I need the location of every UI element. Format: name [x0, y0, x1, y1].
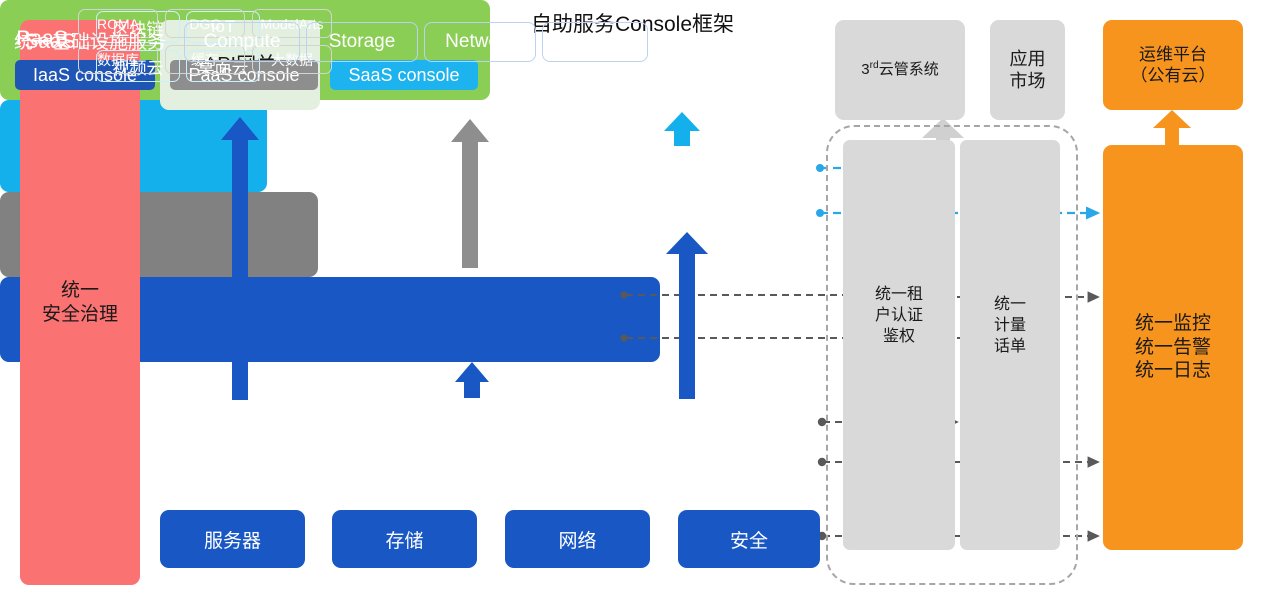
security-line-1: 统一	[42, 279, 118, 303]
saas-console-label: SaaS console	[348, 65, 459, 86]
third-cloud-label: 3rd云管系统	[861, 60, 938, 80]
auth-line-1: 统一租	[843, 285, 955, 306]
infra-chip-storage[interactable]: Storage	[306, 22, 418, 62]
arrow-paas-to-console	[451, 119, 489, 268]
architecture-diagram: 统一 安全治理 API网关 自助服务Console框架 IaaS console…	[0, 0, 1265, 605]
arrow-saas-to-console	[664, 112, 700, 146]
unified-metering-column[interactable]: 统一 计量 话单	[960, 140, 1060, 550]
app-market-box[interactable]: 应用 市场	[990, 20, 1065, 120]
resource-box-network[interactable]: 网络	[505, 510, 650, 568]
unified-infrastructure-label: 统一基础设施服务	[14, 27, 166, 54]
ops-platform-line-1: 运维平台	[1131, 44, 1216, 65]
saas-console-chip[interactable]: SaaS console	[330, 60, 478, 90]
ops-platform-body-box[interactable]: 统一监控 统一告警 统一日志	[1103, 145, 1243, 550]
infra-chip-network[interactable]: Network	[424, 22, 536, 62]
security-governance-panel[interactable]: 统一 安全治理	[20, 20, 140, 585]
unified-tenant-auth-column[interactable]: 统一租 户认证 鉴权	[843, 140, 955, 550]
app-market-line-1: 应用	[1010, 48, 1046, 71]
app-market-line-2: 市场	[1010, 70, 1046, 93]
third-party-cloud-mgmt-box[interactable]: 3rd云管系统	[835, 20, 965, 120]
ops-platform-line-2: （公有云）	[1131, 65, 1216, 86]
ops-log-line: 统一日志	[1135, 359, 1211, 383]
resource-box-storage[interactable]: 存储	[332, 510, 477, 568]
infra-chip-cce[interactable]: CCE	[542, 22, 648, 62]
arrow-infra-to-saas	[666, 232, 708, 399]
ops-alarm-line: 统一告警	[1135, 336, 1211, 360]
metering-line-1: 统一	[960, 295, 1060, 316]
metering-line-3: 话单	[960, 337, 1060, 358]
auth-line-2: 户认证	[843, 306, 955, 327]
arrow-to-ops-platform	[1153, 110, 1191, 145]
auth-line-3: 鉴权	[843, 327, 955, 348]
resource-box-server[interactable]: 服务器	[160, 510, 305, 568]
ops-platform-header-box[interactable]: 运维平台 （公有云）	[1103, 20, 1243, 110]
security-line-2: 安全治理	[42, 303, 118, 327]
infra-chip-compute[interactable]: Compute	[184, 22, 300, 62]
arrow-infra-to-paas	[455, 362, 489, 398]
metering-line-2: 计量	[960, 316, 1060, 337]
resource-box-security[interactable]: 安全	[678, 510, 820, 568]
ops-monitor-line: 统一监控	[1135, 312, 1211, 336]
